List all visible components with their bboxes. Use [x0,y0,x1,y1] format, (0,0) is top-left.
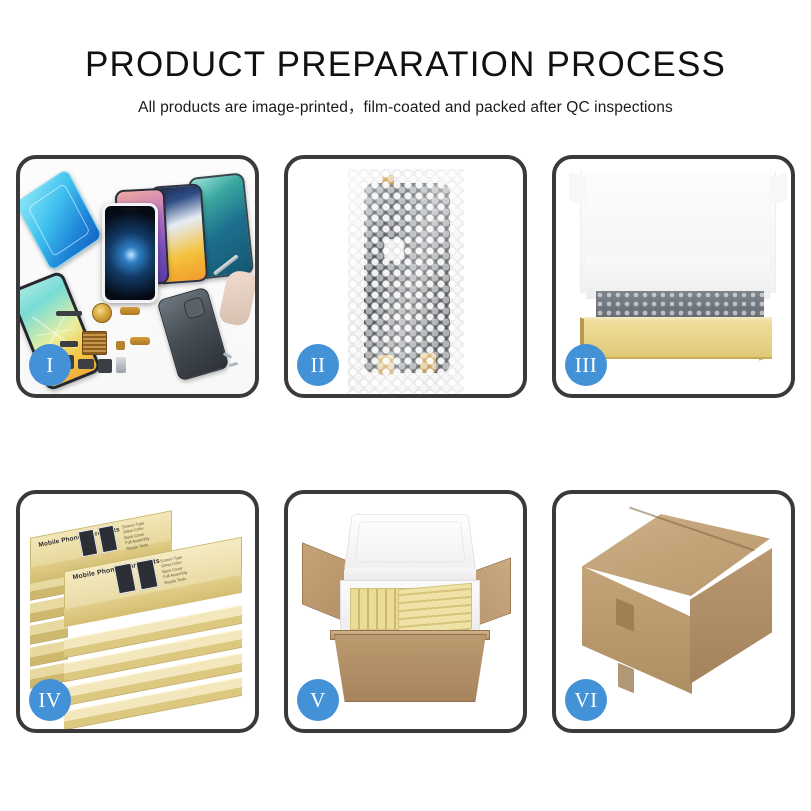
adhesive-film-sheet-icon [20,168,103,272]
step-panel-4: Mobile Phone Spare Parts Screen Type Gla… [16,490,259,733]
flex-cable-part [120,307,140,315]
page-title: PRODUCT PREPARATION PROCESS [0,44,811,86]
header: PRODUCT PREPARATION PROCESS All products… [0,44,811,117]
phone-black-burst-icon [102,203,158,303]
speaker-coil-icon [92,303,112,323]
carton-tape-lower [618,663,634,693]
ic-chip-part [116,341,125,350]
process-steps-grid: I II [16,155,795,733]
page-subtitle: All products are image-printed，film-coat… [0,95,811,117]
step-badge-3: III [565,344,607,386]
button-part [78,359,94,369]
step-panel-1: I [16,155,259,398]
antenna-strip-part [56,311,82,316]
bubble-wrap-bag [348,169,464,393]
step-badge-1: I [29,344,71,386]
product-preparation-infographic: PRODUCT PREPARATION PROCESS All products… [0,0,811,811]
plastic-sheen [348,169,464,393]
step-panel-5: V [284,490,527,733]
step-panel-6: VI [552,490,795,733]
step-panel-2: II [284,155,527,398]
step-badge-6: VI [565,679,607,721]
screws-group [223,354,245,372]
gold-boxes-in-foam-row2 [398,583,472,635]
connector-part [60,341,78,347]
sim-tray-part [116,357,126,373]
flex-cable-part-2 [130,337,150,345]
step-badge-2: II [297,344,339,386]
grid-chip-icon [82,331,107,355]
box-spec-lines-back: Screen Type Glass Color Back Cover Full … [122,520,151,551]
box-spec-lines-front: Screen Type Glass Color Back Cover Full … [160,554,189,585]
carton-front [334,634,486,702]
step-badge-4: IV [29,679,71,721]
box-front-gold [584,321,772,359]
step-panel-3: III [552,155,795,398]
vibrator-part [98,359,112,373]
foam-box-lid [344,514,477,572]
technician-hand-icon [218,268,255,327]
phone-back-housing-icon [156,286,229,381]
step-badge-5: V [297,679,339,721]
